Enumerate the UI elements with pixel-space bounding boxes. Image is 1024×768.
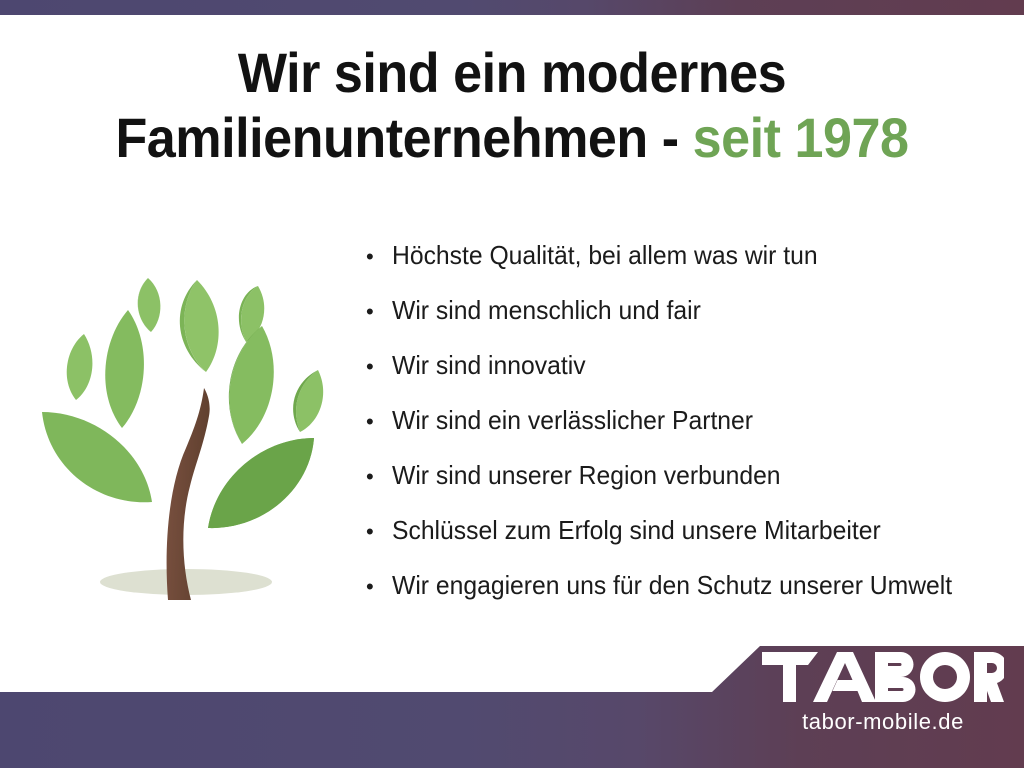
title-accent-year: seit 1978 — [693, 106, 909, 169]
tree-illustration — [18, 248, 362, 612]
title-line-1: Wir sind ein modernes — [36, 44, 988, 101]
list-item-label: Wir sind unserer Region verbunden — [392, 460, 781, 491]
list-item: • Wir engagieren uns für den Schutz unse… — [366, 570, 1016, 625]
title-line-2-prefix: Familienunternehmen - — [115, 106, 692, 169]
leaf-lower-right — [208, 438, 314, 528]
leaf-far-left — [67, 334, 93, 400]
bullet-marker-icon: • — [366, 521, 392, 543]
value-proposition-list: • Höchste Qualität, bei allem was wir tu… — [366, 240, 1016, 625]
leaf-lower-left — [42, 412, 152, 502]
bullet-marker-icon: • — [366, 356, 392, 378]
leaf-upper-left-small — [138, 278, 161, 332]
list-item-label: Schlüssel zum Erfolg sind unsere Mitarbe… — [392, 515, 881, 546]
list-item-label: Wir sind menschlich und fair — [392, 295, 701, 326]
brand-url[interactable]: tabor-mobile.de — [762, 709, 1004, 735]
list-item: • Wir sind unserer Region verbunden — [366, 460, 1016, 515]
top-accent-strip — [0, 0, 1024, 15]
brand-logo[interactable]: tabor-mobile.de — [762, 652, 1012, 735]
bullet-marker-icon: • — [366, 246, 392, 268]
title-line-2: Familienunternehmen - seit 1978 — [36, 109, 988, 166]
leaf-mid-right — [229, 326, 274, 444]
list-item: • Wir sind ein verlässlicher Partner — [366, 405, 1016, 460]
list-item: • Höchste Qualität, bei allem was wir tu… — [366, 240, 1016, 295]
leaf-far-right — [293, 370, 323, 432]
page-title: Wir sind ein modernes Familienunternehme… — [0, 44, 1024, 166]
list-item: • Wir sind menschlich und fair — [366, 295, 1016, 350]
list-item-label: Wir sind innovativ — [392, 350, 586, 381]
bullet-marker-icon: • — [366, 576, 392, 598]
list-item-label: Wir sind ein verlässlicher Partner — [392, 405, 753, 436]
bullet-marker-icon: • — [366, 411, 392, 433]
leaf-mid-left — [105, 310, 144, 428]
bullet-marker-icon: • — [366, 301, 392, 323]
leaf-top-center — [180, 280, 219, 372]
list-item-label: Wir engagieren uns für den Schutz unsere… — [392, 570, 952, 601]
list-item: • Wir sind innovativ — [366, 350, 1016, 405]
slide-canvas: Wir sind ein modernes Familienunternehme… — [0, 0, 1024, 768]
list-item-label: Höchste Qualität, bei allem was wir tun — [392, 240, 818, 271]
tree-trunk — [167, 388, 210, 600]
bullet-marker-icon: • — [366, 466, 392, 488]
list-item: • Schlüssel zum Erfolg sind unsere Mitar… — [366, 515, 1016, 570]
tabor-wordmark-icon — [762, 652, 1004, 702]
